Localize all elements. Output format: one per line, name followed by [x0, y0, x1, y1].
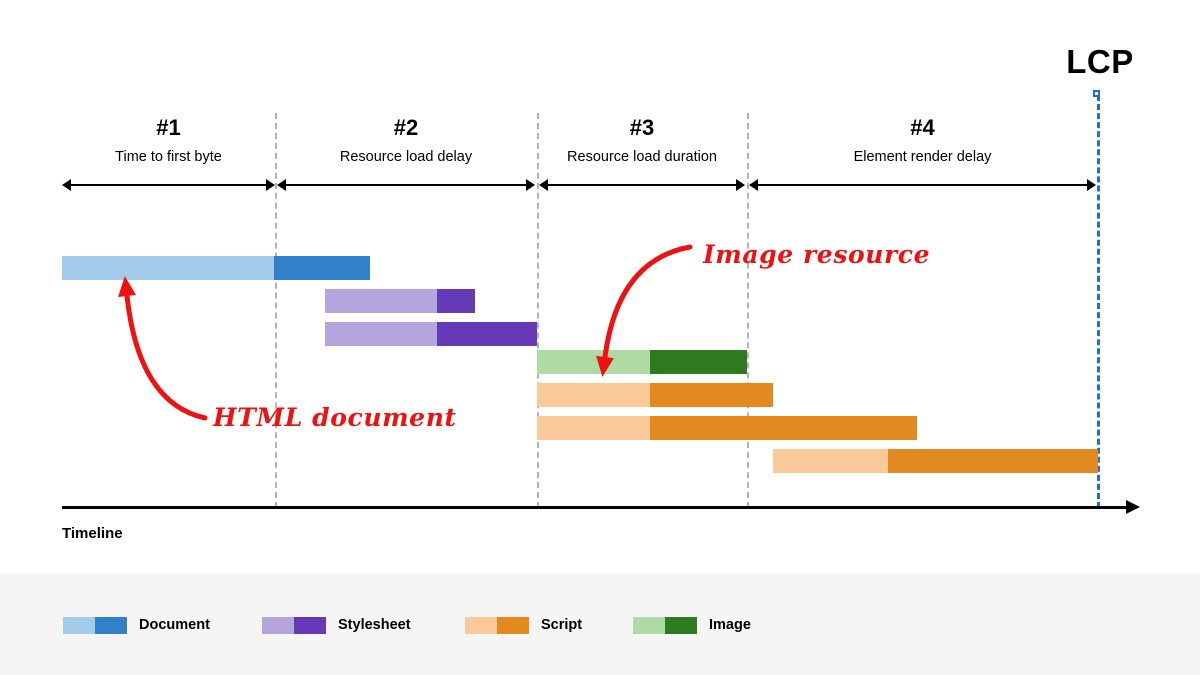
- arrowhead-right-3: [736, 179, 745, 191]
- phase-arrow-2: [277, 179, 535, 191]
- legend-item-script: Script: [465, 612, 582, 638]
- bar-segment-light-7: [773, 449, 888, 473]
- legend-item-document: Document: [63, 612, 210, 638]
- bar-segment-light-2: [325, 289, 437, 313]
- phase-1: #1Time to first byte: [62, 115, 275, 167]
- bar-row-3-stylesheet: [325, 322, 537, 346]
- phase-name-1: Time to first byte: [62, 147, 275, 167]
- lcp-dashed-line: [1097, 95, 1100, 508]
- timeline-axis-arrowhead: [1126, 500, 1140, 514]
- bar-row-2-stylesheet: [325, 289, 475, 313]
- legend-swatch-light-2: [262, 617, 294, 634]
- annotation-arrow-2: [575, 217, 720, 387]
- bar-row-7-script: [773, 449, 1098, 473]
- bar-segment-dark-3: [437, 322, 537, 346]
- legend-label-4: Image: [709, 617, 751, 633]
- legend-item-stylesheet: Stylesheet: [262, 612, 411, 638]
- arrow-shaft-1: [69, 184, 268, 186]
- arrow-shaft-3: [546, 184, 738, 186]
- gridline-2: [537, 113, 539, 508]
- phase-number-4: #4: [749, 115, 1096, 141]
- bar-segment-dark-2: [437, 289, 475, 313]
- lcp-label: LCP: [1040, 43, 1160, 81]
- legend-swatch-light-3: [465, 617, 497, 634]
- legend-swatch-script: [465, 617, 529, 634]
- arrowhead-right-1: [266, 179, 275, 191]
- bar-segment-dark-7: [888, 449, 1098, 473]
- annotation-arrow-1: [97, 266, 235, 448]
- arrowhead-right-4: [1087, 179, 1096, 191]
- legend-swatch-dark-1: [95, 617, 127, 634]
- legend-swatch-dark-3: [497, 617, 529, 634]
- legend-swatch-light-1: [63, 617, 95, 634]
- legend-label-3: Script: [541, 617, 582, 633]
- bar-segment-dark-1: [274, 256, 370, 280]
- legend-label-1: Document: [139, 617, 210, 633]
- timeline-axis-label: Timeline: [62, 525, 123, 542]
- bar-row-6-script: [537, 416, 917, 440]
- annotation-label-2: Image resource: [703, 240, 930, 269]
- legend-swatch-dark-4: [665, 617, 697, 634]
- gridline-3: [747, 113, 749, 508]
- phase-number-1: #1: [62, 115, 275, 141]
- bar-segment-dark-6: [650, 416, 917, 440]
- lcp-phases-diagram: LCP #1Time to first byte#2Resource load …: [0, 0, 1200, 675]
- bar-segment-light-3: [325, 322, 437, 346]
- legend-item-image: Image: [633, 612, 751, 638]
- legend-swatch-document: [63, 617, 127, 634]
- bar-segment-light-6: [537, 416, 650, 440]
- arrow-shaft-4: [756, 184, 1089, 186]
- phase-arrow-3: [539, 179, 745, 191]
- phase-arrow-4: [749, 179, 1096, 191]
- phase-4: #4Element render delay: [749, 115, 1096, 167]
- legend-swatch-image: [633, 617, 697, 634]
- phase-number-3: #3: [539, 115, 745, 141]
- phase-2: #2Resource load delay: [277, 115, 535, 167]
- legend-label-2: Stylesheet: [338, 617, 411, 633]
- arrowhead-right-2: [526, 179, 535, 191]
- arrow-shaft-2: [284, 184, 528, 186]
- legend-swatch-light-4: [633, 617, 665, 634]
- annotation-label-1: HTML document: [213, 403, 457, 432]
- legend-swatch-dark-2: [294, 617, 326, 634]
- phase-3: #3Resource load duration: [539, 115, 745, 167]
- legend-swatch-stylesheet: [262, 617, 326, 634]
- phase-arrow-1: [62, 179, 275, 191]
- phase-name-4: Element render delay: [749, 147, 1096, 167]
- timeline-axis-line: [62, 506, 1128, 509]
- phase-name-2: Resource load delay: [277, 147, 535, 167]
- phase-number-2: #2: [277, 115, 535, 141]
- phase-name-3: Resource load duration: [539, 147, 745, 167]
- gridline-1: [275, 113, 277, 508]
